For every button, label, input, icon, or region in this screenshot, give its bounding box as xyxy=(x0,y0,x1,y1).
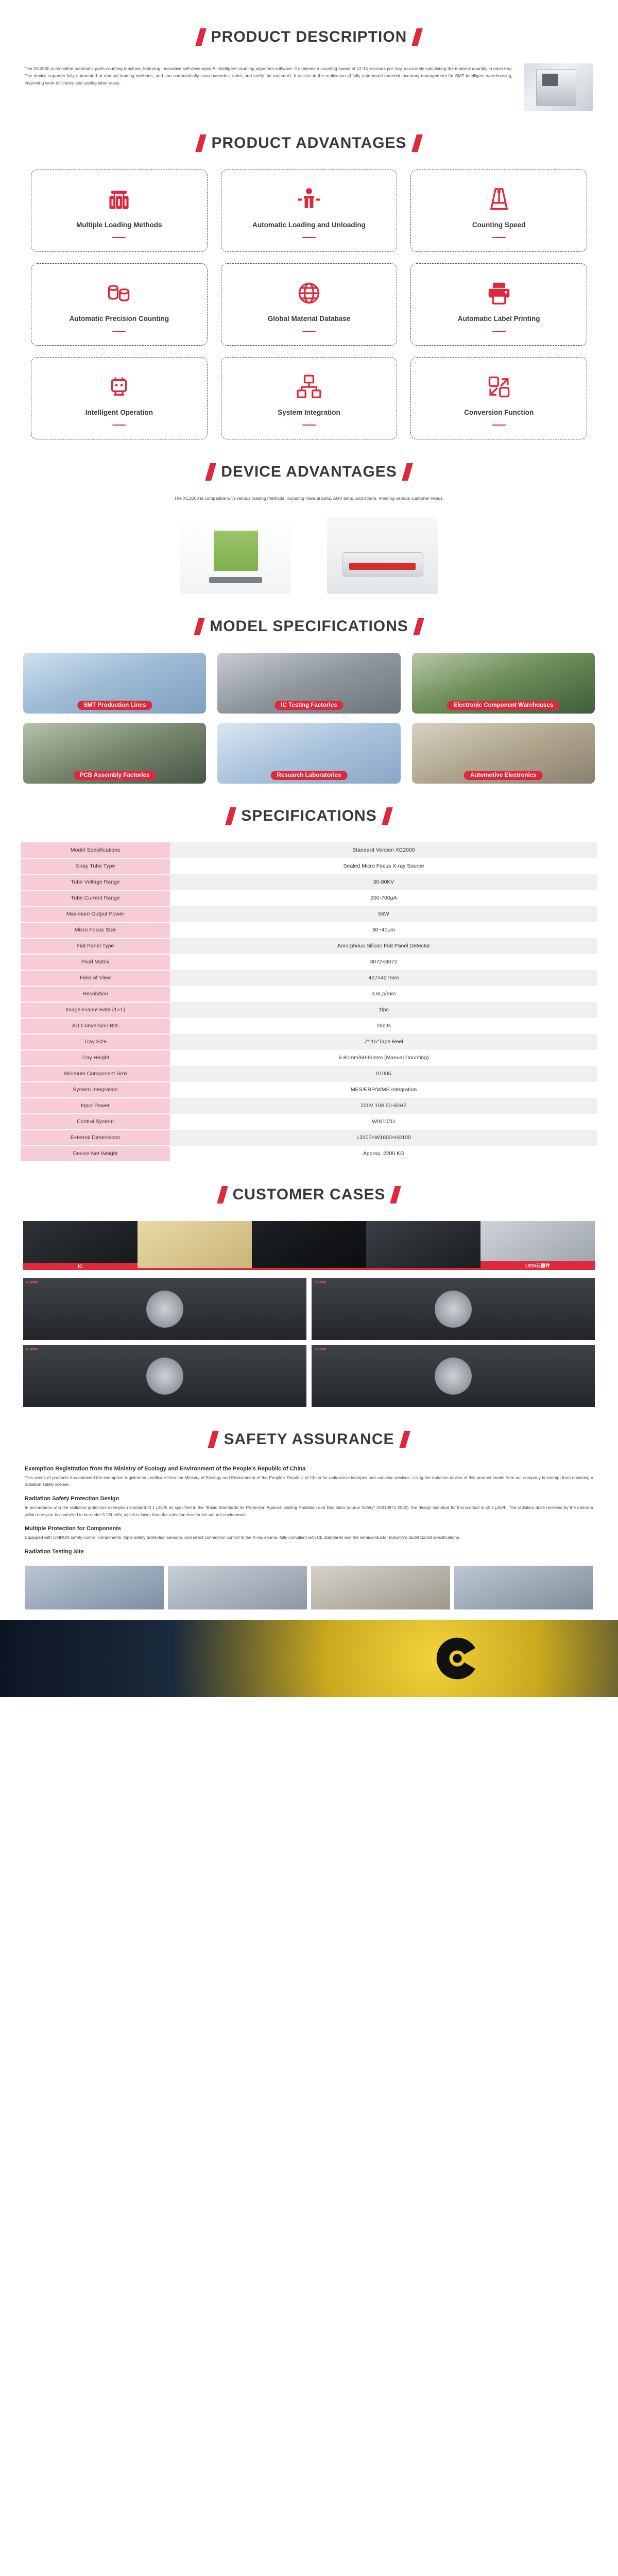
spec-key: Tray Height xyxy=(21,1050,170,1066)
xray-tag: 0.1mm xyxy=(315,1348,326,1351)
spec-value: 01005 xyxy=(170,1066,597,1082)
xray-tag: 0.1mm xyxy=(26,1281,38,1284)
section-title: CUSTOMER CASES xyxy=(233,1186,386,1204)
advantage-label: Automatic Precision Counting xyxy=(70,314,169,324)
spec-value: WIN10/11 xyxy=(170,1114,597,1130)
slash-left-icon xyxy=(208,1431,219,1448)
spec-value: Approx. 2200 KG xyxy=(170,1146,597,1162)
table-row: Tray Height6-80mm/60-80mm (Manual Counti… xyxy=(21,1050,597,1066)
radiation-testing-images xyxy=(0,1566,618,1609)
xray-image-grid: 0.1mm 0.1mm 0.1mm 0.1mm xyxy=(0,1278,618,1407)
advantage-card[interactable]: Automatic Loading and Unloading xyxy=(221,170,398,252)
spec-value: 220V 10A 50-60HZ xyxy=(170,1098,597,1114)
slash-right-icon xyxy=(413,618,424,635)
table-row: Field of View427×427mm xyxy=(21,970,597,986)
table-row: Resolution3.6Lp/mm xyxy=(21,986,597,1002)
slash-left-icon xyxy=(195,28,207,46)
case-caption xyxy=(252,1268,366,1270)
slash-right-icon xyxy=(390,1186,402,1204)
product-page: PRODUCT DESCRIPTION The XC2000 is an onl… xyxy=(0,0,618,1697)
section-header-device-advantages: DEVICE ADVANTAGES xyxy=(0,463,618,481)
spec-key: Field of View xyxy=(21,970,170,986)
case-photo: IC xyxy=(23,1221,138,1270)
safety-heading: Radiation Testing Site xyxy=(25,1549,593,1555)
spec-key: X-ray Tube Type xyxy=(21,858,170,874)
product-description-block: The XC2000 is an online automatic parts … xyxy=(0,63,618,111)
model-tile[interactable]: SMT Production Lines xyxy=(23,653,206,714)
spec-value: 1fps xyxy=(170,1002,597,1018)
model-tile-label: Research Laboratories xyxy=(271,771,348,780)
slash-left-icon xyxy=(205,463,216,481)
table-row: Device Net WeightApprox. 2200 KG xyxy=(21,1146,597,1162)
global-database-icon xyxy=(295,279,323,307)
spec-value: L3100×W1600×H2100 xyxy=(170,1130,597,1146)
specifications-table: Model SpecificationsStandard Version XC2… xyxy=(21,842,597,1162)
section-header-product-advantages: PRODUCT ADVANTAGES xyxy=(0,134,618,152)
section-header-customer-cases: CUSTOMER CASES xyxy=(0,1186,618,1204)
table-row: Tray Size7″-15″Tape Reel xyxy=(21,1034,597,1050)
device-advantages-images xyxy=(0,517,618,594)
slash-right-icon xyxy=(399,1431,410,1448)
safety-assurance-text: Exemption Registration from the Ministry… xyxy=(0,1466,618,1555)
spec-value: 56W xyxy=(170,906,597,922)
case-photo xyxy=(366,1221,480,1270)
case-photo xyxy=(138,1221,252,1270)
counting-speed-icon xyxy=(485,185,513,213)
precision-counting-icon xyxy=(105,279,133,307)
table-row: External DimensionsL3100×W1600×H2100 xyxy=(21,1130,597,1146)
advantage-rule xyxy=(302,237,316,239)
device-advantages-note: The XC2000 is compatible with various lo… xyxy=(0,495,618,502)
radiation-test-photo-3 xyxy=(311,1566,450,1609)
model-tile-label: SMT Production Lines xyxy=(77,701,152,710)
model-tile-label: Electronic Component Warehouses xyxy=(447,701,559,710)
section-title: DEVICE ADVANTAGES xyxy=(221,463,397,481)
safety-body: In accordance with the radiation protect… xyxy=(25,1504,593,1518)
safety-body: Equipped with OMRON safety control compo… xyxy=(25,1534,593,1541)
advantage-label: Automatic Loading and Unloading xyxy=(252,221,366,230)
spec-value: 16bits xyxy=(170,1018,597,1034)
section-title: MODEL SPECIFICATIONS xyxy=(210,618,408,635)
advantage-rule xyxy=(492,425,506,426)
table-row: Maximum Output Power56W xyxy=(21,906,597,922)
safety-heading: Exemption Registration from the Ministry… xyxy=(25,1466,593,1472)
system-integration-icon xyxy=(295,373,323,401)
table-row: Input Power220V 10A 50-60HZ xyxy=(21,1098,597,1114)
advantage-card[interactable]: Counting Speed xyxy=(410,170,587,252)
spec-value: 3072×3072 xyxy=(170,954,597,970)
slash-right-icon xyxy=(411,134,423,152)
spec-key: Tube Voltage Range xyxy=(21,874,170,890)
product-description-text: The XC2000 is an online automatic parts … xyxy=(25,63,512,87)
spec-value: 427×427mm xyxy=(170,970,597,986)
spec-key: Tube Current Range xyxy=(21,890,170,906)
spec-key: Image Frame Rate (1×1) xyxy=(21,1002,170,1018)
xray-image: 0.1mm xyxy=(312,1278,595,1340)
advantage-label: Multiple Loading Methods xyxy=(76,221,162,230)
spec-key: External Dimensions xyxy=(21,1130,170,1146)
advantage-rule xyxy=(302,331,316,332)
case-caption xyxy=(366,1268,480,1270)
section-title: SPECIFICATIONS xyxy=(241,807,376,825)
conversion-function-icon xyxy=(485,373,513,401)
advantage-label: Counting Speed xyxy=(472,221,526,230)
section-header-specifications: SPECIFICATIONS xyxy=(0,807,618,825)
advantages-grid: Multiple Loading Methods Automatic Loadi… xyxy=(0,170,618,439)
advantage-label: System Integration xyxy=(278,408,340,417)
intelligent-operation-icon xyxy=(105,373,133,401)
advantage-card[interactable]: Automatic Precision Counting xyxy=(31,263,208,346)
model-tile-label: PCB Assembly Factories xyxy=(74,771,156,780)
slash-left-icon xyxy=(194,618,205,635)
section-title: PRODUCT ADVANTAGES xyxy=(211,134,406,152)
advantage-rule xyxy=(492,237,506,239)
customer-cases-grid: IC LED/元器件 xyxy=(0,1221,618,1270)
spec-value: Sealed Micro Focus X-ray Source xyxy=(170,858,597,874)
table-row: Image Frame Rate (1×1)1fps xyxy=(21,1002,597,1018)
case-caption: LED/元器件 xyxy=(480,1261,595,1270)
spec-value: MES/ERP/WMS Integration xyxy=(170,1082,597,1098)
table-row: Flat Panel TypeAmorphous Silicon Flat Pa… xyxy=(21,938,597,954)
spec-value: 30-80KV xyxy=(170,874,597,890)
slash-left-icon xyxy=(225,807,236,825)
case-photo xyxy=(252,1221,366,1270)
spec-value: 200-700μA xyxy=(170,890,597,906)
model-tile[interactable]: Research Laboratories xyxy=(217,723,400,784)
spec-key: System Integration xyxy=(21,1082,170,1098)
manual-cart-photo xyxy=(180,517,291,594)
model-specification-tiles: SMT Production Lines IC Testing Factorie… xyxy=(0,653,618,784)
advantage-label: Global Material Database xyxy=(268,314,351,324)
slash-left-icon xyxy=(217,1186,228,1204)
radiation-test-photo-1 xyxy=(25,1566,164,1609)
advantage-rule xyxy=(112,425,126,426)
table-row: Pixel Matrix3072×3072 xyxy=(21,954,597,970)
advantage-rule xyxy=(302,425,316,426)
spec-value: 7″-15″Tape Reel xyxy=(170,1034,597,1050)
model-tile-label: Automotive Electronics xyxy=(464,771,542,780)
slash-right-icon xyxy=(402,463,413,481)
spec-value: Standard Version XC2000 xyxy=(170,842,597,858)
case-caption xyxy=(138,1268,252,1270)
advantage-rule xyxy=(492,331,506,332)
spec-key: Pixel Matrix xyxy=(21,954,170,970)
model-tile-label: IC Testing Factories xyxy=(274,701,343,710)
table-row: AD Conversion Bits16bits xyxy=(21,1018,597,1034)
spec-key: Control System xyxy=(21,1114,170,1130)
advantage-rule xyxy=(112,237,126,239)
xray-tag: 0.1mm xyxy=(315,1281,326,1284)
spec-key: Micro Focus Size xyxy=(21,922,170,938)
section-header-safety-assurance: SAFETY ASSURANCE xyxy=(0,1431,618,1448)
model-tile[interactable]: Electronic Component Warehouses xyxy=(412,653,595,714)
advantage-card[interactable]: Global Material Database xyxy=(221,263,398,346)
spec-value: Amorphous Silicon Flat Panel Detector xyxy=(170,938,597,954)
model-tile[interactable]: Automotive Electronics xyxy=(412,723,595,784)
spec-key: Flat Panel Type xyxy=(21,938,170,954)
loading-methods-icon xyxy=(105,185,133,213)
product-machine-photo xyxy=(524,63,593,111)
section-title: PRODUCT DESCRIPTION xyxy=(211,28,407,46)
slash-left-icon xyxy=(196,134,207,152)
spec-key: Minimum Component Size xyxy=(21,1066,170,1082)
spec-key: Tray Size xyxy=(21,1034,170,1050)
section-title: SAFETY ASSURANCE xyxy=(224,1431,394,1448)
table-row: Micro Focus Size30~40μm xyxy=(21,922,597,938)
radiation-test-photo-2 xyxy=(168,1566,307,1609)
advantage-label: Intelligent Operation xyxy=(85,408,153,417)
radiation-hazard-banner xyxy=(0,1620,618,1697)
case-photo: LED/元器件 xyxy=(480,1221,595,1270)
advantage-card[interactable]: Automatic Label Printing xyxy=(410,263,587,346)
spec-value: 6-80mm/60-80mm (Manual Counting) xyxy=(170,1050,597,1066)
xray-image: 0.1mm xyxy=(23,1278,306,1340)
agv-conveyor-photo xyxy=(327,517,438,594)
xray-image: 0.1mm xyxy=(23,1345,306,1407)
table-row: Tube Voltage Range30-80KV xyxy=(21,874,597,890)
advantage-card[interactable]: System Integration xyxy=(221,357,398,439)
advantage-card[interactable]: Conversion Function xyxy=(410,357,587,439)
advantage-label: Conversion Function xyxy=(464,408,534,417)
spec-key: Input Power xyxy=(21,1098,170,1114)
radiation-trefoil-icon xyxy=(433,1634,482,1683)
safety-body: This series of products has obtained the… xyxy=(25,1475,593,1488)
spec-key: Device Net Weight xyxy=(21,1146,170,1162)
safety-heading: Radiation Safety Protection Design xyxy=(25,1496,593,1502)
spec-value: 30~40μm xyxy=(170,922,597,938)
automatic-loading-icon xyxy=(295,185,323,213)
slash-right-icon xyxy=(382,807,393,825)
model-tile[interactable]: PCB Assembly Factories xyxy=(23,723,206,784)
case-caption: IC xyxy=(23,1263,138,1270)
advantage-card[interactable]: Multiple Loading Methods xyxy=(31,170,208,252)
xray-image: 0.1mm xyxy=(312,1345,595,1407)
advantage-rule xyxy=(112,331,126,332)
table-row: Control SystemWIN10/11 xyxy=(21,1114,597,1130)
model-tile[interactable]: IC Testing Factories xyxy=(217,653,400,714)
table-row: Minimum Component Size01005 xyxy=(21,1066,597,1082)
table-row: Model SpecificationsStandard Version XC2… xyxy=(21,842,597,858)
xray-tag: 0.1mm xyxy=(26,1348,38,1351)
radiation-test-photo-4 xyxy=(454,1566,593,1609)
spec-key: Model Specifications xyxy=(21,842,170,858)
table-row: X-ray Tube TypeSealed Micro Focus X-ray … xyxy=(21,858,597,874)
spec-key: Maximum Output Power xyxy=(21,906,170,922)
advantage-label: Automatic Label Printing xyxy=(458,314,540,324)
spec-key: AD Conversion Bits xyxy=(21,1018,170,1034)
table-row: System IntegrationMES/ERP/WMS Integratio… xyxy=(21,1082,597,1098)
label-printing-icon xyxy=(485,279,513,307)
slash-right-icon xyxy=(411,28,423,46)
safety-heading: Multiple Protection for Components xyxy=(25,1526,593,1532)
section-header-model-specifications: MODEL SPECIFICATIONS xyxy=(0,618,618,635)
advantage-card[interactable]: Intelligent Operation xyxy=(31,357,208,439)
spec-value: 3.6Lp/mm xyxy=(170,986,597,1002)
table-row: Tube Current Range200-700μA xyxy=(21,890,597,906)
section-header-product-description: PRODUCT DESCRIPTION xyxy=(0,28,618,46)
spec-key: Resolution xyxy=(21,986,170,1002)
